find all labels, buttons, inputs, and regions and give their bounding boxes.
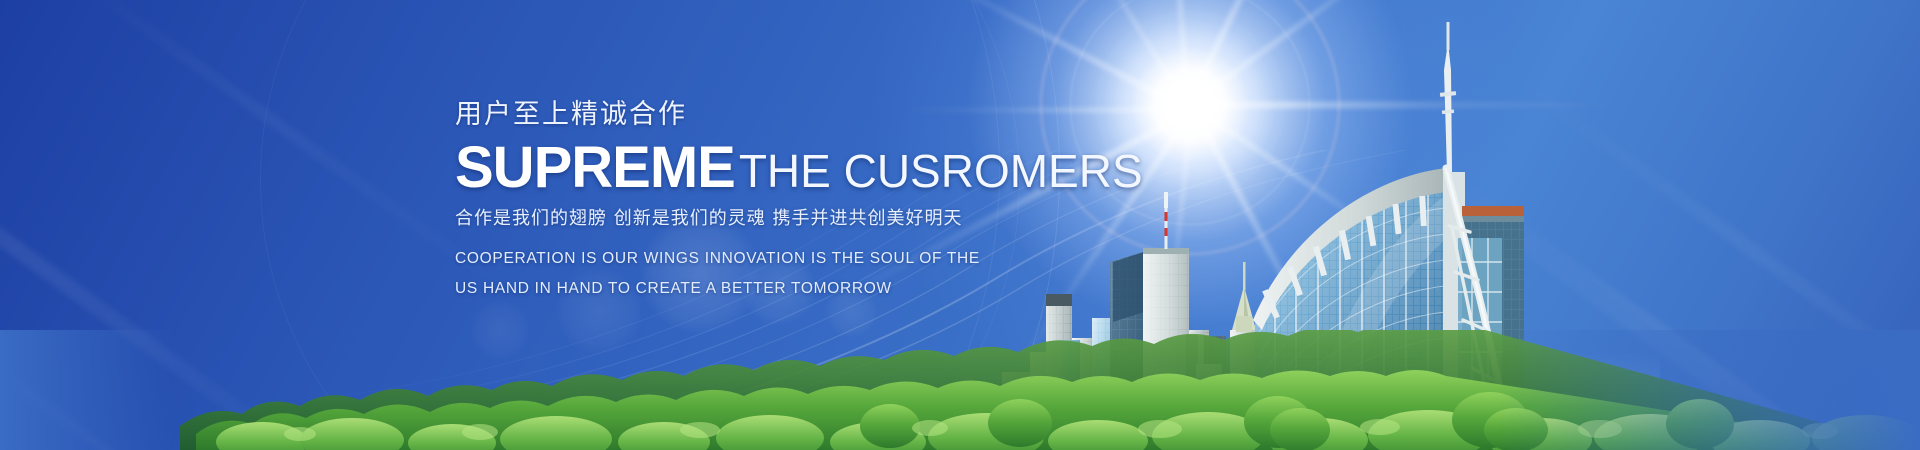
headline-english-bold: SUPREME — [455, 135, 735, 200]
subheadline-english-line1: COOPERATION IS OUR WINGS INNOVATION IS T… — [455, 244, 1215, 274]
subheadline-english-line2: US HAND IN HAND TO CREATE A BETTER TOMOR… — [455, 274, 1215, 304]
street-furniture — [1278, 384, 1306, 432]
banner-copy: 用户至上精诚合作 SUPREMETHE CUSROMERS 合作是我们的翅膀 创… — [455, 98, 1215, 304]
headline-english-light: THE CUSROMERS — [739, 145, 1143, 197]
subheadline-english: COOPERATION IS OUR WINGS INNOVATION IS T… — [455, 244, 1215, 304]
curved-glass-office-tower — [1253, 22, 1530, 450]
headline-english: SUPREMETHE CUSROMERS — [455, 138, 1215, 197]
bokeh-circle — [470, 300, 530, 360]
subheadline-chinese: 合作是我们的翅膀 创新是我们的灵魂 携手并进共创美好明天 — [455, 204, 1215, 230]
hero-banner: 用户至上精诚合作 SUPREMETHE CUSROMERS 合作是我们的翅膀 创… — [0, 0, 1920, 450]
headline-chinese: 用户至上精诚合作 — [455, 98, 1215, 132]
treeline — [0, 330, 1920, 450]
